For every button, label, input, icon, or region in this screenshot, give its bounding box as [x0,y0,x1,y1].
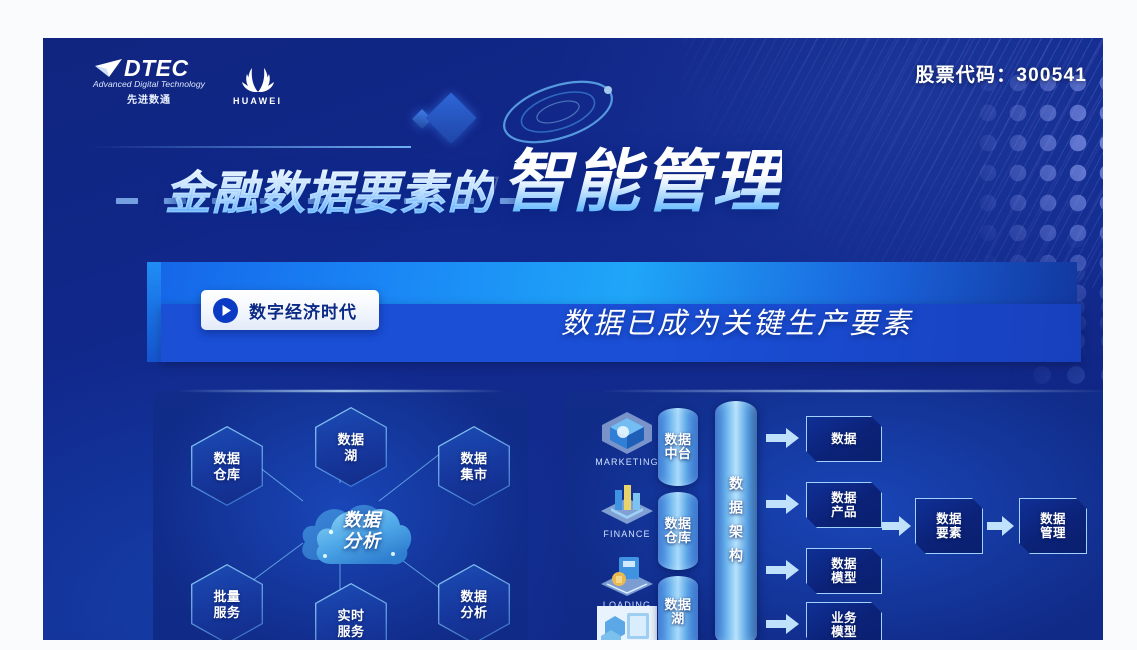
banner-headline: 数据已成为关键生产要素 [561,300,913,342]
hex-line1: 数据 [337,432,364,447]
output-line2: 产品 [831,505,857,519]
output-label: 数据 产品 [831,491,857,519]
hex-line2: 集市 [460,467,487,482]
cloud-line1: 数据 [343,510,381,531]
logo-group: DTEC Advanced Digital Technology 先进数通 HU… [93,58,282,106]
output-label: 数据 模型 [831,557,857,585]
hex-node-label: 批量 服务 [191,564,263,640]
hex-node-label: 数据 集市 [438,426,510,506]
source-devices[interactable] [591,604,663,640]
arrow-right-icon [987,515,1015,537]
devices-icon [597,604,657,640]
hex-line1: 数据 [213,451,240,466]
layer-line1: 数据 [664,516,691,531]
hex-line2: 服务 [337,624,364,639]
section-tag[interactable]: 数字经济时代 [201,290,379,330]
arrow-right-icon [766,559,800,581]
hex-line2: 服务 [213,605,240,620]
hex-node-label: 数据 湖 [315,407,387,487]
source-caption: MARKETING [591,457,663,467]
hex-line2: 湖 [344,448,358,463]
output-line1: 数据 [831,491,857,505]
hex-node-data-warehouse[interactable]: 数据 仓库 [191,426,263,506]
layer-label: 数据 中台 [664,433,691,461]
hex-line1: 批量 [213,589,240,604]
final-line2: 管理 [1040,526,1066,540]
hex-node-data-lake[interactable]: 数据 湖 [315,407,387,487]
banner-left-edge [147,262,161,362]
layer-data-warehouse[interactable]: 数据 仓库 [658,492,698,570]
page-title-part1: 金融数据要素的 [165,157,494,225]
section-tag-label: 数字经济时代 [249,298,357,323]
stock-code: 股票代码：300541 [915,60,1087,87]
page-title-part2: 智能管理 [502,126,782,225]
dtec-chinese-name: 先进数通 [93,91,205,106]
final-data-governance[interactable]: 数据 管理 [1019,498,1087,554]
output-line2: 模型 [831,571,857,585]
output-data-model[interactable]: 数据 模型 [806,548,882,594]
result-label: 数据 要素 [936,512,962,540]
hex-line1: 实时 [337,608,364,623]
hex-line1: 数据 [460,451,487,466]
slide-canvas: DTEC Advanced Digital Technology 先进数通 HU… [43,38,1103,640]
source-loading[interactable]: LOADING [591,551,663,610]
layer-line2: 仓库 [664,530,691,545]
page-title: 金融数据要素的 智能管理 [165,126,782,225]
arrow-right-icon [766,613,800,635]
hex-line1: 数据 [460,589,487,604]
huawei-logo: HUAWEI [233,65,282,106]
arrow-right-icon [766,493,800,515]
cloud-center-label: 数据 分析 [297,486,413,572]
source-caption: FINANCE [591,529,663,539]
hex-line2: 分析 [460,605,487,620]
cloud-line2: 分析 [343,531,381,552]
finance-chart-icon [597,480,657,528]
layer-label: 数据 湖 [664,598,691,626]
huawei-flower-icon [237,65,279,93]
output-label: 业务 模型 [831,611,857,639]
data-architecture-label: 数据架构 [729,476,743,572]
hex-node-label: 实时 服务 [315,583,387,640]
result-line2: 要素 [936,526,962,540]
output-label: 数据 [831,432,857,446]
dtec-wordmark: DTEC [124,58,189,78]
marketing-cube-icon [597,408,657,456]
output-line2: 模型 [831,625,857,639]
layer-data-midend[interactable]: 数据 中台 [658,408,698,486]
dtec-tagline: Advanced Digital Technology [93,79,205,89]
arrow-right-icon [882,515,912,537]
layer-data-lake[interactable]: 数据 湖 [658,576,698,640]
hex-node-data-analysis[interactable]: 数据 分析 [438,564,510,640]
final-label: 数据 管理 [1040,512,1066,540]
layer-line1: 数据 [664,432,691,447]
output-line1: 业务 [831,611,857,625]
result-data-element[interactable]: 数据 要素 [915,498,983,554]
output-data-product[interactable]: 数据 产品 [806,482,882,528]
hex-line2: 仓库 [213,467,240,482]
data-architecture-spine[interactable]: 数据架构 [715,401,757,640]
hex-node-label: 数据 仓库 [191,426,263,506]
huawei-wordmark: HUAWEI [233,96,282,106]
layer-line2: 湖 [671,611,685,626]
final-line1: 数据 [1040,512,1066,526]
dtec-arrow-icon [93,58,123,78]
hex-node-data-mart[interactable]: 数据 集市 [438,426,510,506]
source-marketing[interactable]: MARKETING [591,408,663,467]
result-line1: 数据 [936,512,962,526]
arrow-right-icon [766,427,800,449]
layer-label: 数据 仓库 [664,517,691,545]
play-circle-icon [213,298,238,323]
output-line1: 数据 [831,432,857,446]
dtec-logo: DTEC Advanced Digital Technology 先进数通 [93,58,205,106]
output-data[interactable]: 数据 [806,416,882,462]
loading-lock-icon [597,551,657,599]
source-finance[interactable]: FINANCE [591,480,663,539]
layer-line2: 中台 [664,446,691,461]
layer-line1: 数据 [664,597,691,612]
output-business-model[interactable]: 业务 模型 [806,602,882,640]
hex-node-label: 数据 分析 [438,564,510,640]
hex-node-realtime-service[interactable]: 实时 服务 [315,583,387,640]
output-line1: 数据 [831,557,857,571]
hex-node-batch-service[interactable]: 批量 服务 [191,564,263,640]
